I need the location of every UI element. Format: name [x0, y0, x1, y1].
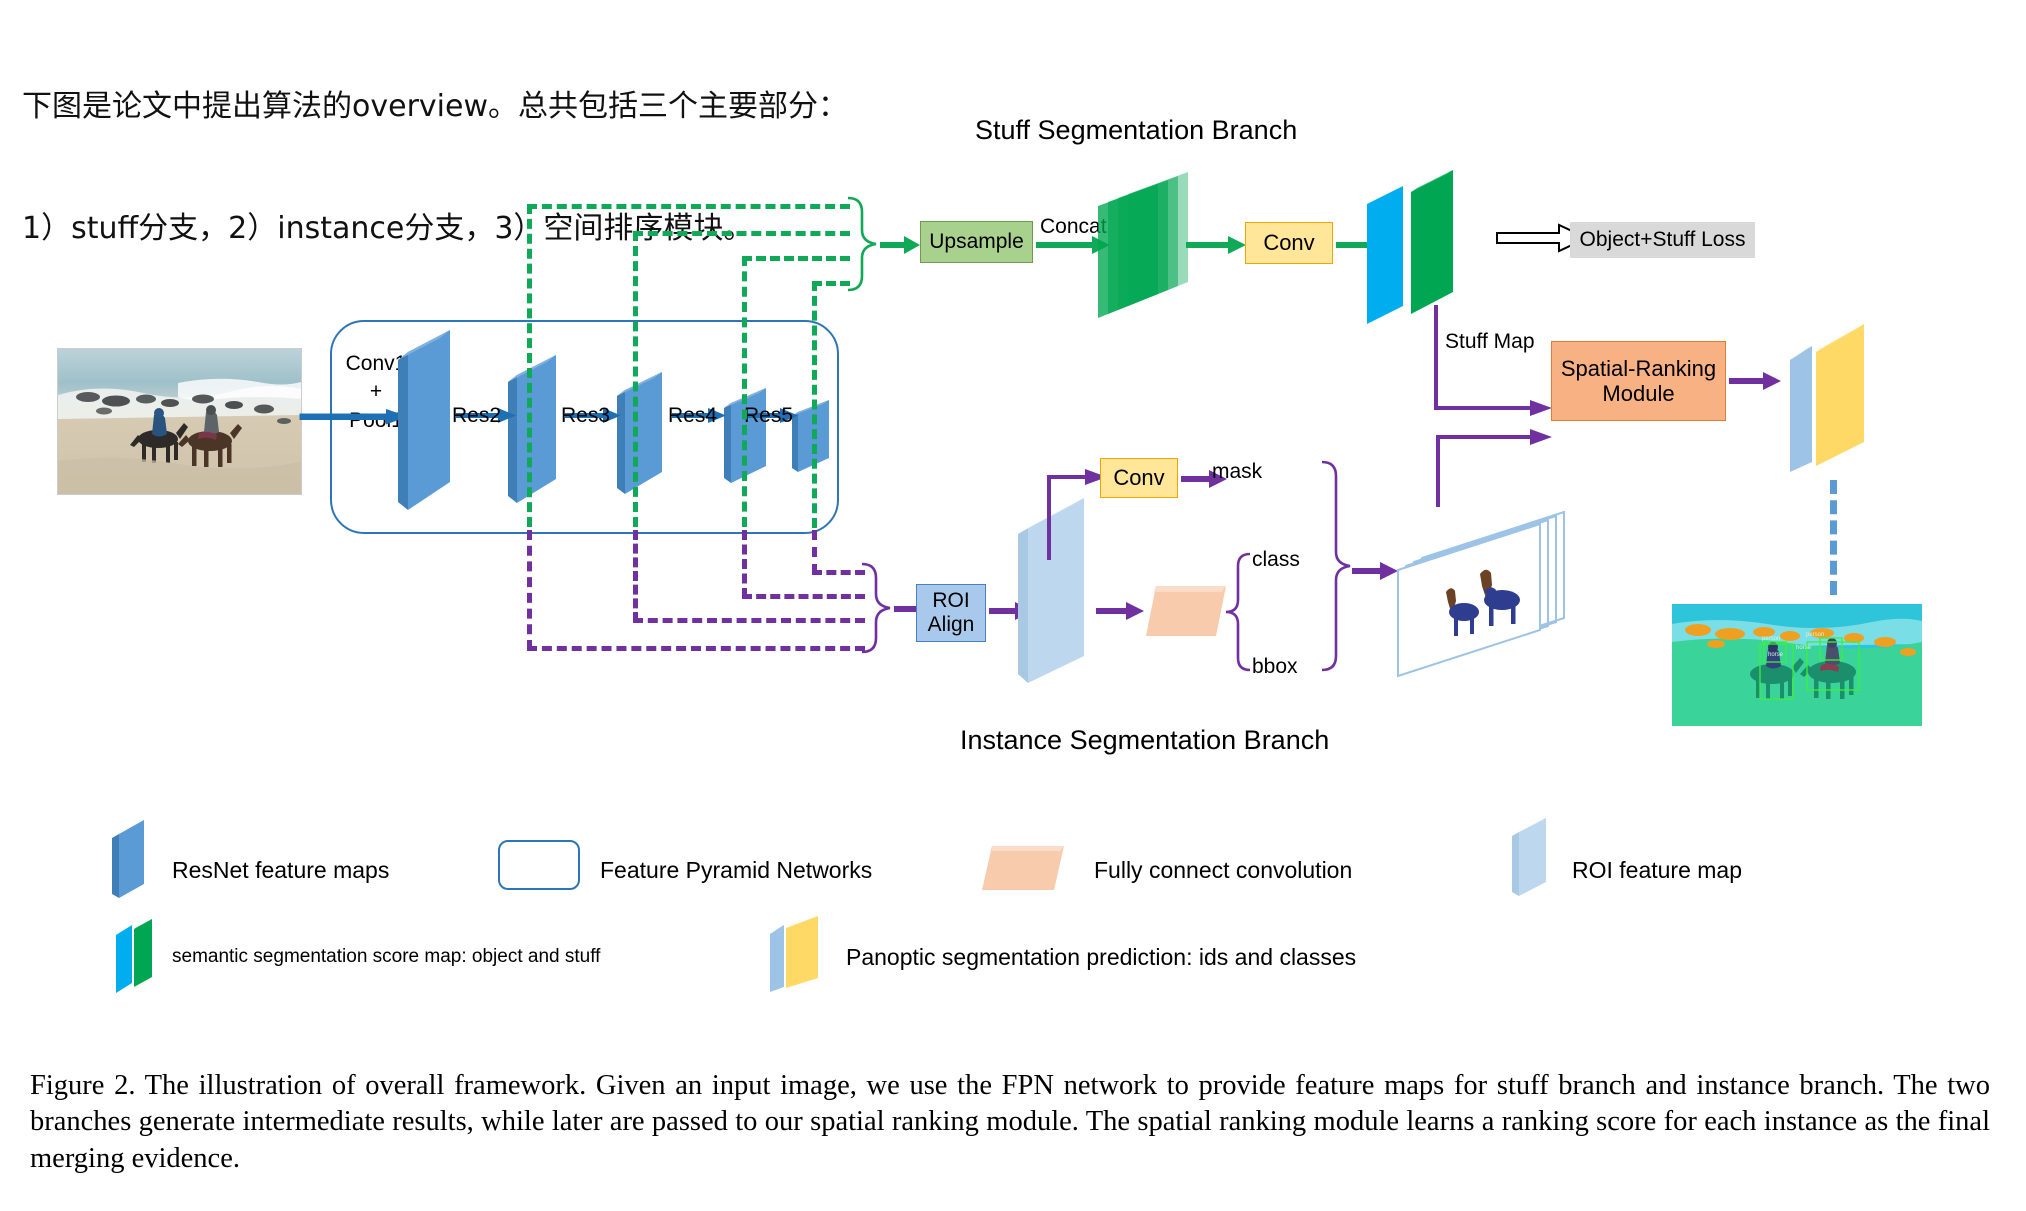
purple-dash-v1: [527, 530, 532, 650]
stuff-branch-title: Stuff Segmentation Branch: [975, 115, 1297, 146]
resnet-feature-map-3: [617, 372, 673, 494]
green-dash-h3: [742, 256, 850, 261]
panoptic-prediction-map: [1790, 312, 1900, 472]
ranking-label-line1: Spatial-Ranking: [1561, 356, 1716, 381]
legend-icon-fully-connect-convolution: [982, 846, 1064, 890]
upsample-box[interactable]: Upsample: [920, 221, 1033, 263]
output-panoptic-image: person person horse horse: [1672, 604, 1922, 726]
arrow-concat-to-conv: [1186, 234, 1248, 256]
green-dash-h4: [812, 281, 850, 286]
res4-label: Res4: [668, 404, 717, 428]
purple-dash-v3: [742, 530, 747, 598]
purple-dash-v2: [633, 530, 638, 622]
green-brace: [846, 196, 884, 292]
res3-label: Res3: [561, 404, 610, 428]
res5-label: Res5: [744, 404, 793, 428]
fully-connect-convolution-shape: [1146, 586, 1226, 636]
bbox-label: bbox: [1252, 655, 1298, 679]
figure-caption: Figure 2. The illustration of overall fr…: [30, 1068, 1990, 1177]
purple-dash-v4: [812, 530, 817, 574]
output-label-horse-1: horse: [1768, 652, 1784, 658]
roi-feature-map: [1018, 468, 1104, 683]
panoptic-to-output-dash: [1830, 480, 1837, 595]
legend-icon-feature-pyramid-networks: [498, 840, 580, 890]
res2-label: Res2: [452, 404, 501, 428]
arrow-instance-to-ranking: [1530, 425, 1564, 449]
class-label: class: [1252, 548, 1300, 572]
legend-label-semantic-score-map: semantic segmentation score map: object …: [172, 946, 600, 968]
input-image: [57, 348, 302, 495]
instance-branch-title: Instance Segmentation Branch: [960, 725, 1329, 756]
output-label-person-2: person: [1806, 632, 1824, 638]
arrow-input-to-backbone: [300, 405, 410, 429]
stuff-map-line-v: [1434, 305, 1438, 410]
green-dash-v4: [812, 281, 817, 528]
legend-label-feature-pyramid-networks: Feature Pyramid Networks: [600, 857, 872, 884]
mask-label: mask: [1212, 460, 1262, 484]
arrow-ranking-to-output: [1729, 370, 1785, 392]
green-dash-h1: [527, 204, 850, 209]
arrow-to-upsample: [880, 234, 922, 256]
roi-align-label-line1: ROI: [932, 589, 969, 613]
purple-brace: [860, 562, 898, 654]
purple-dash-h1: [527, 646, 865, 651]
legend-icon-roi-feature-map: [1512, 818, 1556, 896]
purple-dash-h2: [633, 618, 865, 623]
green-dash-v3: [742, 256, 747, 527]
legend-label-resnet-feature-maps: ResNet feature maps: [172, 857, 389, 884]
arrow-featmap-to-fc: [1096, 600, 1146, 622]
resnet-feature-map-4: [724, 388, 776, 483]
green-dash-v1: [527, 204, 532, 527]
stuff-map-label: Stuff Map: [1445, 330, 1535, 354]
purple-dash-h3: [742, 594, 865, 599]
purple-dash-h4: [812, 570, 865, 575]
stuff-conv-box[interactable]: Conv: [1245, 222, 1333, 264]
ranking-label-line2: Module: [1602, 381, 1674, 406]
instance-to-ranking-line-v: [1436, 435, 1440, 507]
legend-label-panoptic-prediction: Panoptic segmentation prediction: ids an…: [846, 944, 1356, 971]
legend-label-fully-connect-convolution: Fully connect convolution: [1094, 857, 1352, 884]
legend-icon-resnet-feature-maps: [112, 820, 154, 898]
legend-icon-panoptic-prediction: [770, 912, 834, 992]
legend-label-roi-feature-map: ROI feature map: [1572, 857, 1742, 884]
output-label-horse-2: horse: [1796, 645, 1812, 651]
class-bbox-brace: [1222, 552, 1254, 672]
mask-branch-line-v: [1047, 475, 1051, 560]
resnet-feature-map-2: [508, 355, 568, 503]
roi-align-label-line2: Align: [928, 613, 975, 637]
object-stuff-loss-box: Object+Stuff Loss: [1570, 222, 1755, 258]
instance-result-frames: [1392, 500, 1572, 680]
green-dash-v2: [633, 231, 638, 527]
legend-icon-semantic-score-map: [112, 915, 162, 993]
merge-brace: [1320, 460, 1354, 678]
spatial-ranking-module-box[interactable]: Spatial-Ranking Module: [1551, 341, 1726, 421]
mask-conv-box[interactable]: Conv: [1100, 458, 1178, 498]
green-dash-h2: [633, 231, 850, 236]
roi-align-box[interactable]: ROI Align: [916, 584, 986, 642]
semantic-score-maps: [1357, 164, 1487, 324]
output-label-person-1: person: [1762, 636, 1780, 642]
stuff-map-line-h: [1434, 406, 1544, 410]
